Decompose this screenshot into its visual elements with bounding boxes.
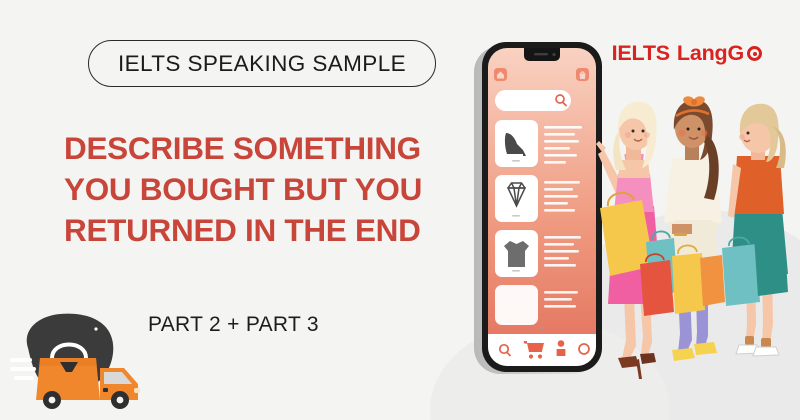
left-text-column: IELTS SPEAKING SAMPLE DESCRIBE SOMETHING… xyxy=(0,0,470,420)
headline-line-2: YOU BOUGHT BUT YOU xyxy=(64,169,464,210)
headline-line-3: RETURNED IN THE END xyxy=(64,210,464,251)
logo-ielts-text: IELTS xyxy=(612,41,670,66)
parts-subtitle: PART 2 + PART 3 xyxy=(148,313,319,337)
page-title: DESCRIBE SOMETHING YOU BOUGHT BUT YOU RE… xyxy=(64,128,464,251)
logo-langgo-text: LangG xyxy=(677,41,744,66)
brand-logo: IELTS LangG xyxy=(612,41,762,66)
ielts-speaking-sample-badge: IELTS SPEAKING SAMPLE xyxy=(88,40,436,87)
woman-brunette-cream-top xyxy=(664,96,722,361)
woman-rust-top xyxy=(728,104,788,356)
target-o-icon xyxy=(747,46,762,61)
headline-line-1: DESCRIBE SOMETHING xyxy=(64,128,464,169)
three-women-shopping-illustration xyxy=(596,96,800,396)
badge-label: IELTS SPEAKING SAMPLE xyxy=(118,51,406,77)
